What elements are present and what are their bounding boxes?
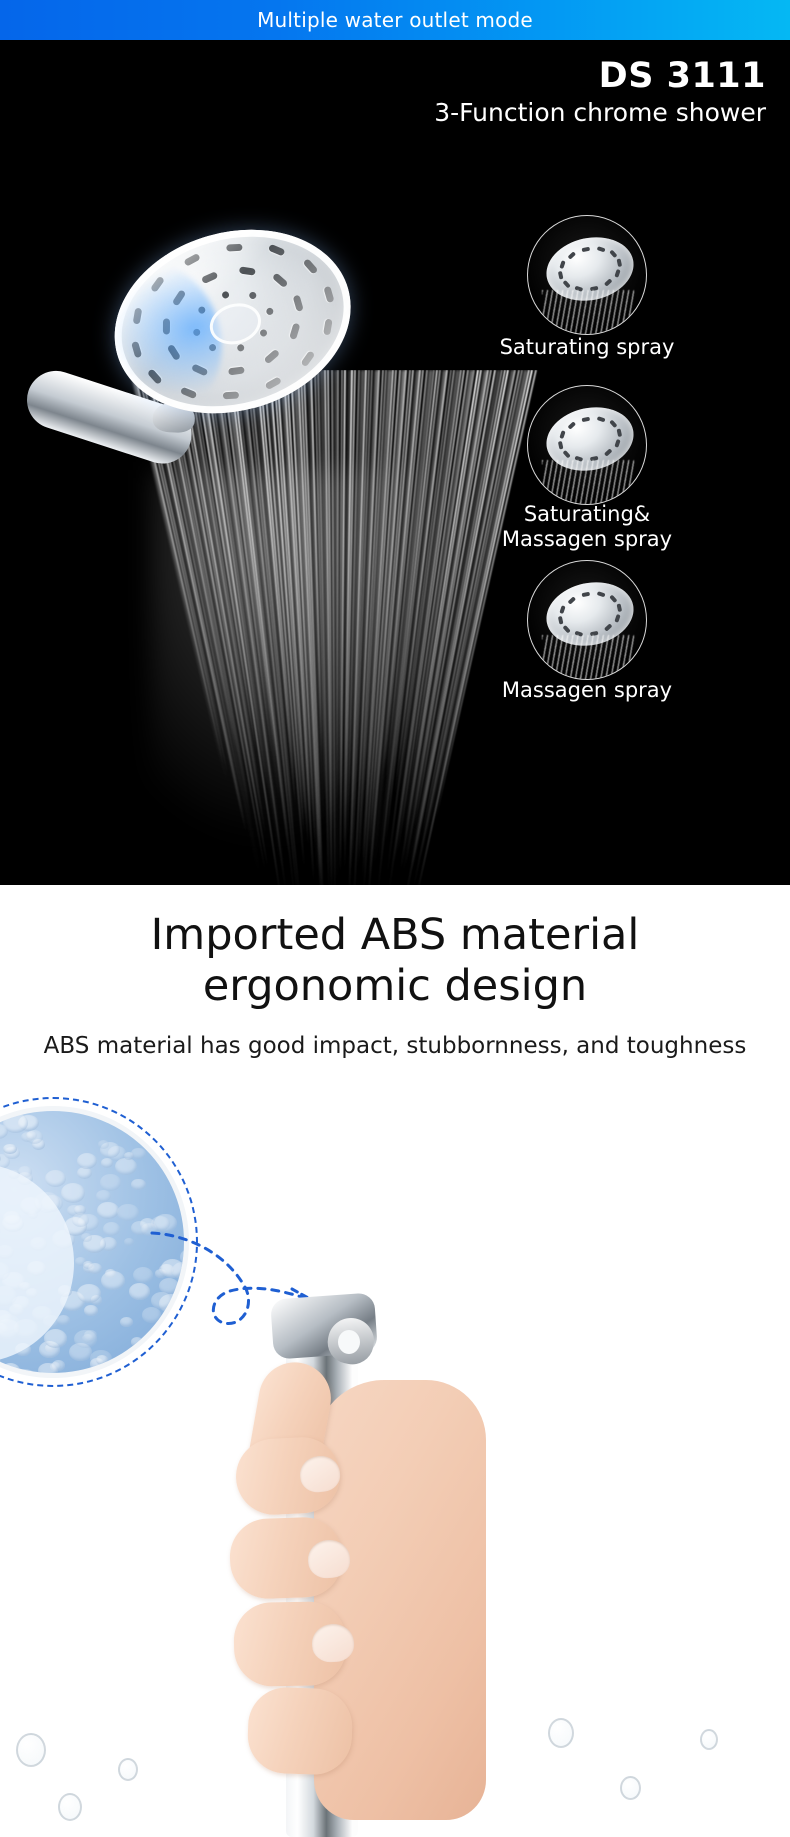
finger-thumb [247, 1686, 354, 1776]
nail-3 [311, 1623, 355, 1663]
thumbnail-nozzle [582, 247, 591, 253]
thumbnail-nozzle [604, 449, 613, 457]
water-droplet-2 [58, 1793, 82, 1821]
top-banner-text: Multiple water outlet mode [257, 8, 533, 32]
thumbnail-nozzle [562, 625, 570, 634]
thumbnail-nozzle [604, 279, 613, 287]
abs-pellet [177, 1370, 189, 1378]
thumbnail-nozzle [582, 592, 591, 598]
thumbnail-nozzle [617, 258, 623, 267]
abs-pellet [142, 1373, 156, 1378]
thumbnail-nozzle [614, 439, 620, 448]
mode-label-2-line1: Saturating& [437, 502, 737, 527]
thumbnail-jets-3 [542, 635, 634, 680]
material-heading: Imported ABS material ergonomic design [0, 910, 790, 1011]
thumbnail-nozzle [597, 591, 606, 597]
thumbnail-jets-1 [542, 290, 634, 335]
water-droplet-5 [620, 1776, 641, 1800]
abs-pellet [149, 1358, 173, 1378]
water-droplet-1 [16, 1733, 46, 1767]
mode-label-3: Massagen spray [437, 678, 737, 703]
thumbnail-nozzle [567, 596, 576, 604]
mode-thumbnail-3[interactable] [527, 560, 647, 680]
thumbnail-nozzle [609, 595, 617, 604]
material-heading-line1: Imported ABS material [0, 910, 790, 961]
thumbnail-nozzle [609, 420, 617, 429]
abs-pellet [172, 1356, 184, 1366]
thumbnail-nozzle [558, 271, 564, 280]
thumbnail-nozzle [567, 421, 576, 429]
thumbnail-nozzle [559, 430, 565, 439]
thumbnail-nozzle [597, 416, 606, 422]
product-subtitle: 3-Function chrome shower [434, 97, 766, 128]
water-droplet-6 [700, 1729, 718, 1750]
thumbnail-nozzle [609, 250, 617, 259]
mode-label-2-line2: Massagen spray [437, 527, 737, 552]
hero-section: DS 3111 3-Function chrome shower Saturat… [0, 40, 790, 885]
top-banner: Multiple water outlet mode [0, 0, 790, 40]
thumbnail-nozzle [617, 603, 623, 612]
thumbnail-jets-2 [542, 460, 634, 505]
thumbnail-nozzle [559, 605, 565, 614]
handle-hook-inner [338, 1330, 360, 1354]
material-subheading: ABS material has good impact, stubbornne… [0, 1033, 790, 1059]
thumbnail-nozzle [604, 624, 613, 632]
mode-thumbnail-1[interactable] [527, 215, 647, 335]
thumbnail-nozzle [582, 417, 591, 423]
thumbnail-nozzle [567, 251, 576, 259]
abs-pellet [162, 1127, 183, 1143]
mode-thumbnail-2[interactable] [527, 385, 647, 505]
thumbnail-nozzle [558, 441, 564, 450]
hand-holding-shower [196, 1352, 496, 1837]
product-detail-page: Multiple water outlet mode DS 3111 3-Fun… [0, 0, 790, 1837]
product-model: DS 3111 [434, 58, 766, 95]
thumbnail-nozzle [614, 269, 620, 278]
abs-label: ABS [0, 1219, 38, 1265]
thumbnail-nozzle [614, 614, 620, 623]
thumbnail-nozzle [559, 260, 565, 269]
hero-title-block: DS 3111 3-Function chrome shower [434, 58, 766, 128]
material-heading-line2: ergonomic design [0, 961, 790, 1012]
thumbnail-nozzle [617, 428, 623, 437]
thumbnail-nozzle [558, 616, 564, 625]
mode-label-1: Saturating spray [437, 335, 737, 360]
water-droplet-4 [548, 1718, 574, 1748]
abs-pellet [155, 1109, 170, 1121]
thumbnail-nozzle [597, 246, 606, 252]
thumbnail-nozzle [562, 450, 570, 459]
mode-label-2: Saturating& Massagen spray [437, 502, 737, 552]
water-mist [150, 470, 480, 870]
water-droplet-3 [118, 1758, 138, 1781]
thumbnail-nozzle [562, 280, 570, 289]
